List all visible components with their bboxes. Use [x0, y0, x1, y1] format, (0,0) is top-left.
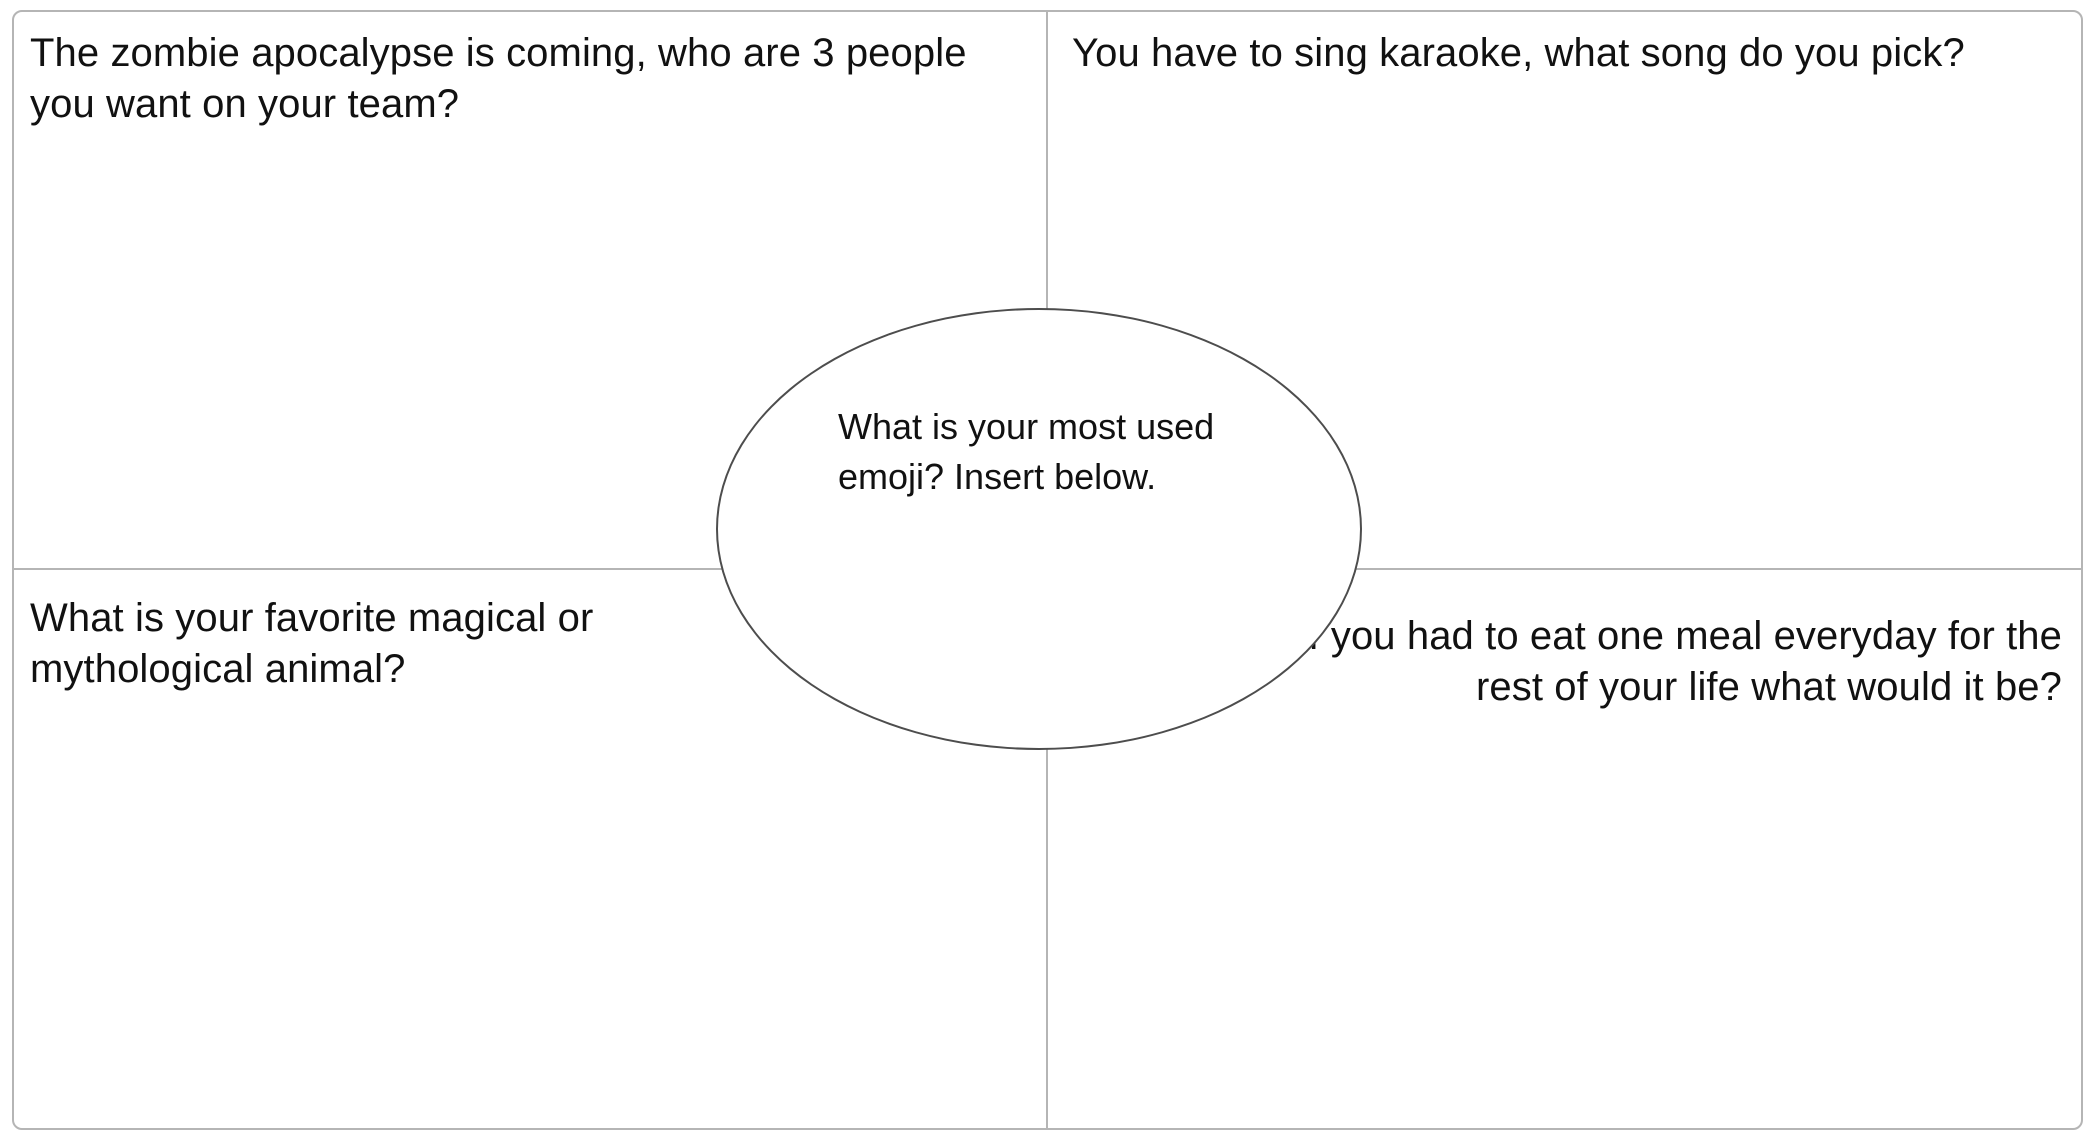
worksheet-canvas: The zombie apocalypse is coming, who are…	[0, 0, 2096, 1144]
quadrant-bottom-right-prompt[interactable]: If you had to eat one meal everyday for …	[1290, 611, 2062, 713]
center-ellipse-shape[interactable]	[716, 308, 1362, 750]
quadrant-top-right-prompt[interactable]: You have to sing karaoke, what song do y…	[1072, 28, 2062, 79]
center-ellipse-prompt[interactable]: What is your most used emoji? Insert bel…	[838, 402, 1268, 501]
quadrant-bottom-left-prompt[interactable]: What is your favorite magical or mytholo…	[30, 593, 690, 695]
quadrant-top-left-prompt[interactable]: The zombie apocalypse is coming, who are…	[30, 28, 1010, 130]
